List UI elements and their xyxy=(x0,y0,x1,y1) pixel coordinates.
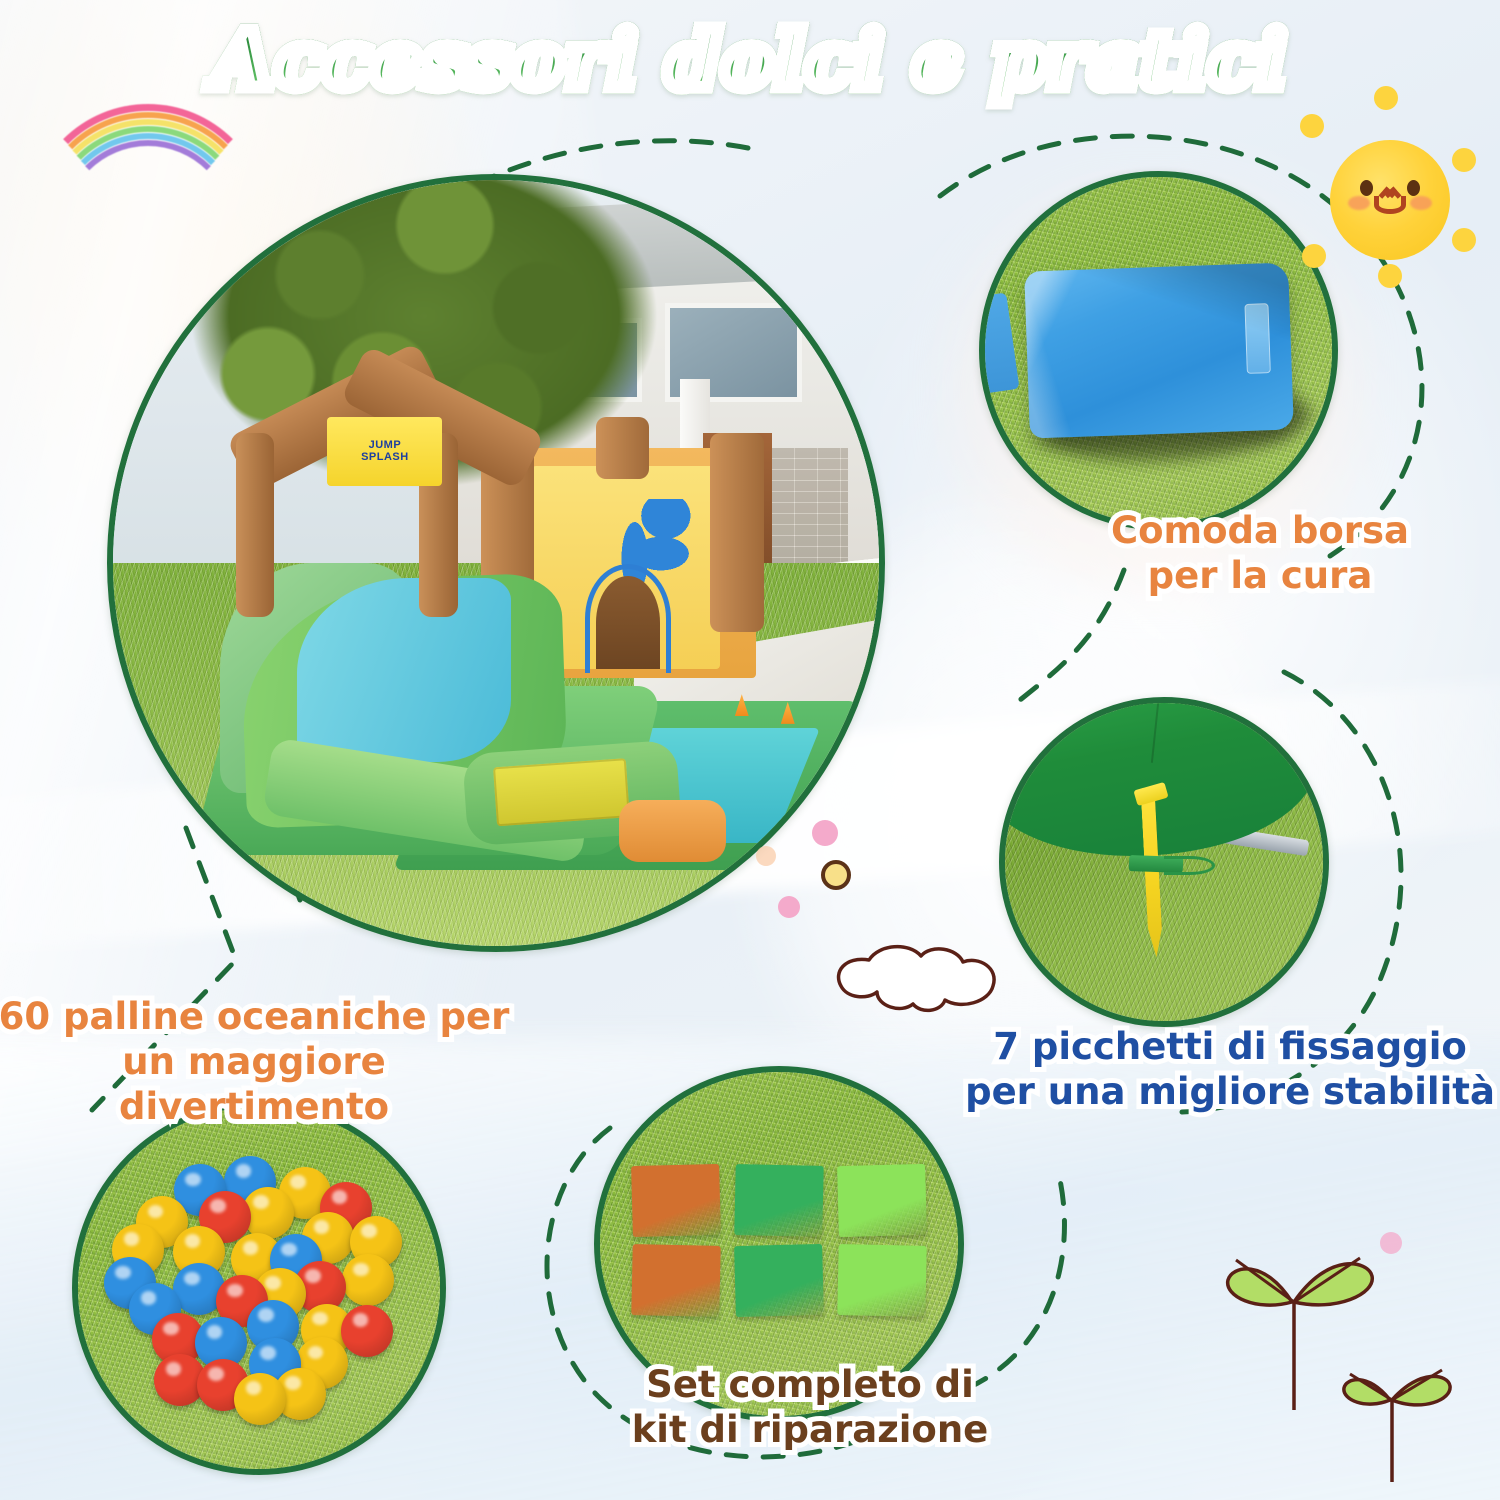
caption-carry-bag: Comoda borsa per la cura xyxy=(1040,508,1480,598)
sun-mouth xyxy=(1374,196,1406,214)
ocean-ball xyxy=(234,1373,286,1425)
sun-ray-dot xyxy=(1452,148,1476,172)
sun-cheek-left xyxy=(1348,196,1370,210)
repair-patch-grid xyxy=(632,1165,926,1316)
storage-bag xyxy=(1024,263,1293,439)
caption-repair-kit: Set completo di kit di riparazione xyxy=(600,1362,1020,1452)
sun-eye-right xyxy=(1407,180,1420,196)
jump-splash-sign: JUMP SPLASH xyxy=(327,417,442,486)
page-title-text: Accessori dolci e pratici xyxy=(213,15,1287,106)
sun-icon xyxy=(1330,140,1450,260)
repair-patch xyxy=(734,1164,824,1237)
sun-ray-dot xyxy=(1374,86,1398,110)
ocean-ball xyxy=(342,1254,394,1306)
caption-ocean-balls: 60 palline oceaniche per un maggiore div… xyxy=(0,994,514,1129)
castle-tower-right xyxy=(710,433,764,632)
plant-icon xyxy=(1330,1334,1480,1484)
castle-arch-trim xyxy=(585,564,671,673)
castle-merlon xyxy=(596,417,650,478)
anchor-strap-loop xyxy=(1164,856,1215,875)
ocean-ball xyxy=(341,1305,393,1357)
water-sprayer xyxy=(619,800,726,861)
cloud-icon xyxy=(825,930,1010,1020)
confetti-dot xyxy=(812,820,838,846)
bag-handle xyxy=(1244,303,1270,374)
sign-line-2: SPLASH xyxy=(361,452,409,464)
sun-cheek-right xyxy=(1410,196,1432,210)
main-product-photo[interactable]: JUMP SPLASH xyxy=(107,174,885,952)
confetti-dot xyxy=(778,896,800,918)
ball-cluster xyxy=(78,1107,440,1469)
repair-patch xyxy=(837,1244,927,1317)
caption-ground-stakes: 7 picchetti di fissaggio per una miglior… xyxy=(960,1024,1500,1114)
infographic-canvas: Accessori dolci e pratici xyxy=(0,0,1500,1500)
repair-patch xyxy=(734,1244,824,1317)
repair-patch xyxy=(631,1244,721,1317)
confetti-dot xyxy=(1380,1232,1402,1254)
sun-ray-dot xyxy=(1302,244,1326,268)
confetti-dot xyxy=(756,846,776,866)
ocean-balls-photo[interactable] xyxy=(72,1101,446,1475)
confetti-coin xyxy=(821,860,851,890)
inflatable-slide-lane xyxy=(297,578,511,762)
ground-stake-photo[interactable] xyxy=(999,697,1329,1027)
cannon-label xyxy=(493,758,630,826)
sun-ray-dot xyxy=(1300,114,1324,138)
page-title: Accessori dolci e pratici xyxy=(0,22,1500,100)
playhouse-post-left xyxy=(236,433,274,617)
repair-patch xyxy=(631,1164,721,1237)
fabric-seam xyxy=(1151,697,1161,763)
sun-ray-dot xyxy=(1378,264,1402,288)
carry-bag-photo[interactable] xyxy=(979,171,1338,530)
sun-ray-dot xyxy=(1452,228,1476,252)
repair-patch xyxy=(837,1164,927,1237)
sun-eye-left xyxy=(1360,180,1373,196)
